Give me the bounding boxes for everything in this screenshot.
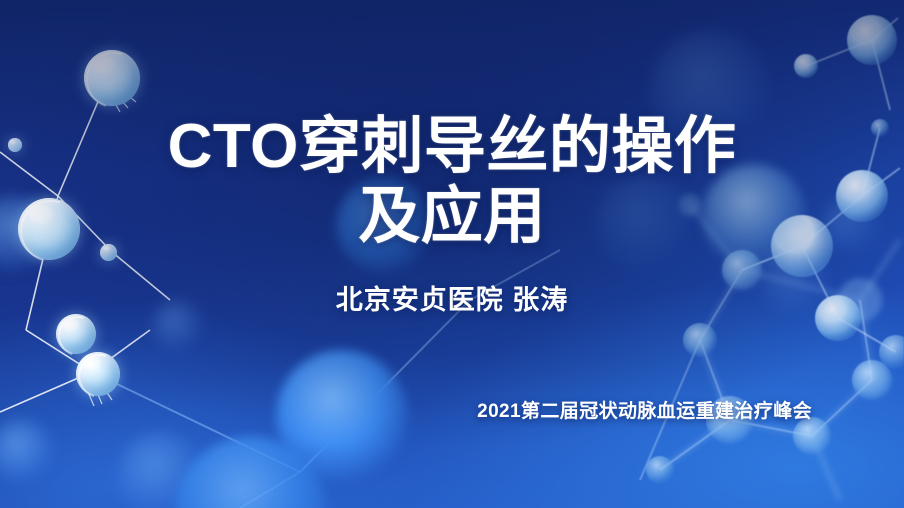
conference-footer: 2021第二届冠状动脉血运重建治疗峰会 <box>477 396 812 423</box>
background-vignette <box>0 0 904 508</box>
presenter-subtitle: 北京安贞医院 张涛 <box>0 278 904 317</box>
page-title: CTO穿刺导丝的操作 及应用 <box>0 112 904 252</box>
title-line-2: 及应用 <box>0 182 904 252</box>
title-slide: CTO穿刺导丝的操作 及应用 北京安贞医院 张涛 2021第二届冠状动脉血运重建… <box>0 0 904 508</box>
title-line-1: CTO穿刺导丝的操作 <box>0 112 904 182</box>
